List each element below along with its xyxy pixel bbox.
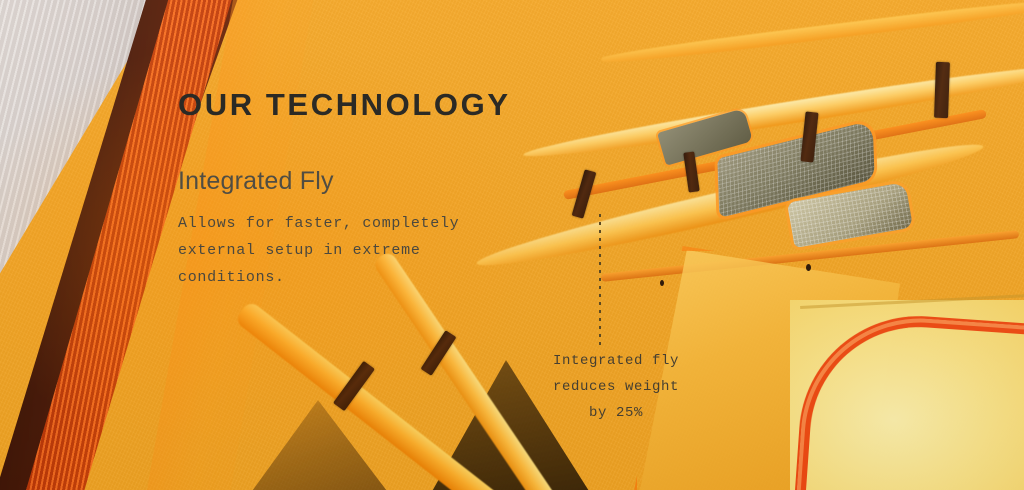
page-title: OUR TECHNOLOGY xyxy=(178,88,598,122)
hardware-dot xyxy=(660,280,664,286)
callout-label: Integrated fly reduces weight by 25% xyxy=(500,348,732,426)
feature-title: Integrated Fly xyxy=(178,168,598,196)
hardware-dot xyxy=(806,264,811,271)
webbing-strap xyxy=(934,62,950,118)
callout-leader-line xyxy=(599,214,601,346)
feature-description: Allows for faster, completely external s… xyxy=(178,210,598,291)
banner-text-block: OUR TECHNOLOGY Integrated Fly Allows for… xyxy=(178,88,598,291)
technology-banner: OUR TECHNOLOGY Integrated Fly Allows for… xyxy=(0,0,1024,490)
